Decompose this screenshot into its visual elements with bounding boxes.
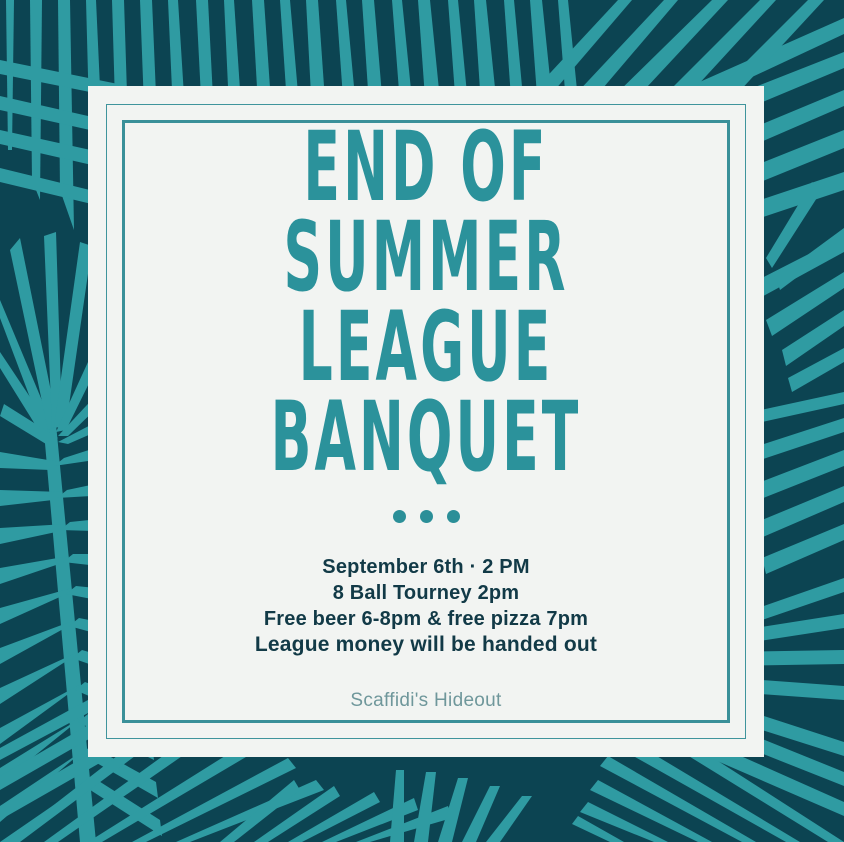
event-tourney-info: 8 Ball Tourney 2pm: [88, 580, 764, 606]
event-details-block: September 6th · 2 PM 8 Ball Tourney 2pm …: [88, 554, 764, 658]
event-payout-info: League money will be handed out: [88, 632, 764, 658]
event-date-time: September 6th · 2 PM: [88, 554, 764, 580]
event-food-drink-info: Free beer 6-8pm & free pizza 7pm: [88, 606, 764, 632]
divider-dot-2: [420, 510, 433, 523]
poster-card: END OF SUMMER LEAGUE BANQUET September 6…: [88, 86, 764, 757]
headline-line-2: SUMMER: [216, 212, 635, 302]
divider-dot-3: [447, 510, 460, 523]
headline-line-4: BANQUET: [216, 392, 635, 482]
headline-block: END OF SUMMER LEAGUE BANQUET: [88, 122, 764, 482]
event-poster: END OF SUMMER LEAGUE BANQUET September 6…: [0, 0, 844, 842]
venue-name: Scaffidi's Hideout: [88, 690, 764, 712]
card-content: END OF SUMMER LEAGUE BANQUET September 6…: [88, 86, 764, 757]
headline-line-3: LEAGUE: [216, 302, 635, 392]
divider-dot-1: [393, 510, 406, 523]
headline-line-1: END OF: [216, 122, 635, 212]
three-dots-divider: [88, 510, 764, 523]
